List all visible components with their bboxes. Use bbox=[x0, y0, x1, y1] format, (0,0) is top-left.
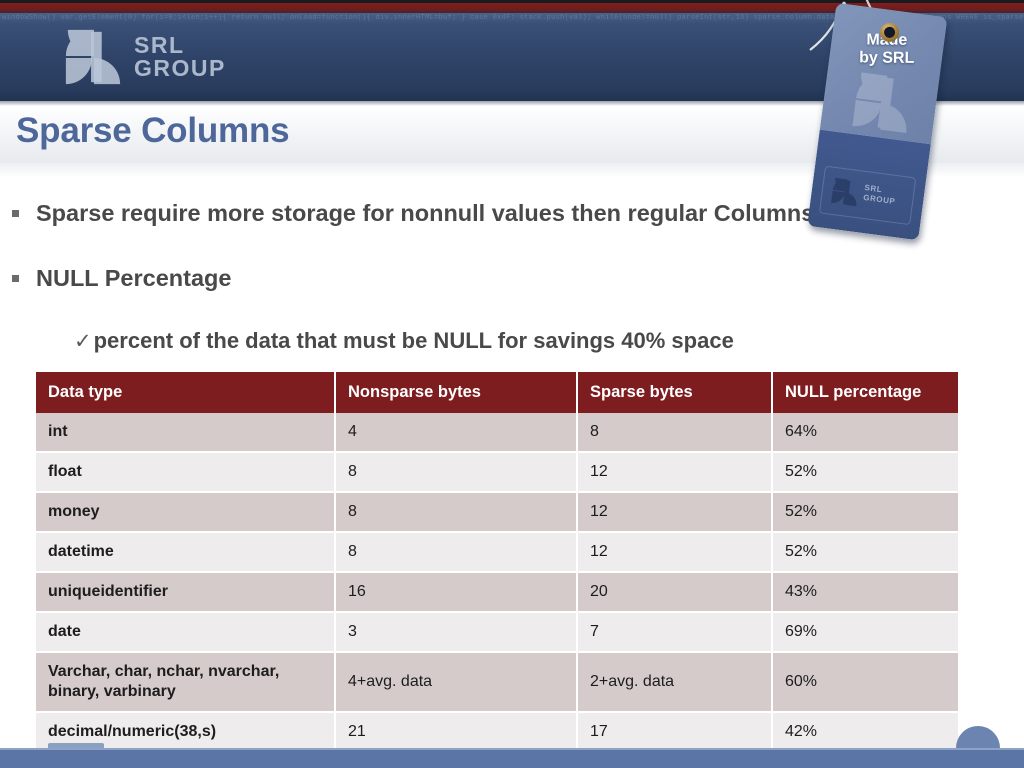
cell-sparse: 20 bbox=[577, 572, 772, 612]
tag-watermark-logo-icon bbox=[848, 68, 918, 138]
brand-logo: SRL GROUP bbox=[62, 26, 242, 88]
bullet-item-1: Sparse require more storage for nonnull … bbox=[12, 200, 814, 227]
column-header-null-pct: NULL percentage bbox=[772, 372, 958, 413]
cell-sparse: 8 bbox=[577, 413, 772, 452]
table-row: money 8 12 52% bbox=[36, 492, 958, 532]
column-header-nonsparse: Nonsparse bytes bbox=[335, 372, 577, 413]
footer-bar bbox=[0, 750, 1024, 768]
cell-nonsparse: 21 bbox=[335, 712, 577, 752]
srl-pinwheel-logo-icon bbox=[62, 26, 124, 88]
table-row: decimal/numeric(38,s) 21 17 42% bbox=[36, 712, 958, 752]
cell-nonsparse: 4 bbox=[335, 413, 577, 452]
cell-null-pct: 60% bbox=[772, 652, 958, 712]
brand-logo-text: SRL GROUP bbox=[134, 34, 226, 80]
cell-data-type: datetime bbox=[36, 532, 335, 572]
table-row: datetime 8 12 52% bbox=[36, 532, 958, 572]
cell-null-pct: 69% bbox=[772, 612, 958, 652]
bullet-item-2-label: NULL Percentage bbox=[36, 265, 231, 291]
cell-null-pct: 43% bbox=[772, 572, 958, 612]
table-row: float 8 12 52% bbox=[36, 452, 958, 492]
cell-nonsparse: 4+avg. data bbox=[335, 652, 577, 712]
table-row: uniqueidentifier 16 20 43% bbox=[36, 572, 958, 612]
cell-null-pct: 64% bbox=[772, 413, 958, 452]
square-bullet-icon bbox=[12, 275, 19, 282]
cell-data-type: uniqueidentifier bbox=[36, 572, 335, 612]
cell-nonsparse: 3 bbox=[335, 612, 577, 652]
cell-nonsparse: 8 bbox=[335, 452, 577, 492]
cell-data-type: Varchar, char, nchar, nvarchar, binary, … bbox=[36, 652, 335, 712]
cell-sparse: 2+avg. data bbox=[577, 652, 772, 712]
cell-null-pct: 52% bbox=[772, 452, 958, 492]
cell-sparse: 12 bbox=[577, 452, 772, 492]
cell-sparse: 12 bbox=[577, 532, 772, 572]
cell-nonsparse: 8 bbox=[335, 492, 577, 532]
page-title: Sparse Columns bbox=[16, 106, 289, 156]
bullet-item-2: NULL Percentage bbox=[12, 265, 231, 292]
bullet-item-3: ✓percent of the data that must be NULL f… bbox=[74, 328, 734, 354]
cell-data-type: int bbox=[36, 413, 335, 452]
cell-data-type: float bbox=[36, 452, 335, 492]
tag-logo-text: SRL GROUP bbox=[863, 183, 898, 207]
table-row: date 3 7 69% bbox=[36, 612, 958, 652]
cell-data-type: money bbox=[36, 492, 335, 532]
brand-logo-line2: GROUP bbox=[134, 57, 226, 80]
bullet-item-3-label: percent of the data that must be NULL fo… bbox=[94, 328, 734, 353]
cell-sparse: 12 bbox=[577, 492, 772, 532]
cell-sparse: 7 bbox=[577, 612, 772, 652]
check-bullet-icon: ✓ bbox=[74, 329, 92, 354]
cell-data-type: date bbox=[36, 612, 335, 652]
square-bullet-icon bbox=[12, 210, 19, 217]
tag-text-line2: by SRL bbox=[831, 49, 943, 68]
bullet-item-1-label: Sparse require more storage for nonnull … bbox=[36, 200, 814, 226]
table-row: Varchar, char, nchar, nvarchar, binary, … bbox=[36, 652, 958, 712]
table-header-row: Data type Nonsparse bytes Sparse bytes N… bbox=[36, 372, 958, 413]
cell-null-pct: 42% bbox=[772, 712, 958, 752]
cell-nonsparse: 16 bbox=[335, 572, 577, 612]
slide-canvas: windowShow() var.getElement(0) for(i=0;i… bbox=[0, 0, 1024, 768]
table-header: Data type Nonsparse bytes Sparse bytes N… bbox=[36, 372, 958, 413]
cell-null-pct: 52% bbox=[772, 532, 958, 572]
cell-sparse: 17 bbox=[577, 712, 772, 752]
brand-logo-line1: SRL bbox=[134, 34, 226, 57]
sparse-columns-table: Data type Nonsparse bytes Sparse bytes N… bbox=[36, 372, 958, 753]
table-body: int 4 8 64% float 8 12 52% money 8 12 52… bbox=[36, 413, 958, 752]
table-row: int 4 8 64% bbox=[36, 413, 958, 452]
column-header-data-type: Data type bbox=[36, 372, 335, 413]
tag-srl-logo-icon bbox=[829, 176, 862, 209]
cell-null-pct: 52% bbox=[772, 492, 958, 532]
column-header-sparse: Sparse bytes bbox=[577, 372, 772, 413]
cell-nonsparse: 8 bbox=[335, 532, 577, 572]
